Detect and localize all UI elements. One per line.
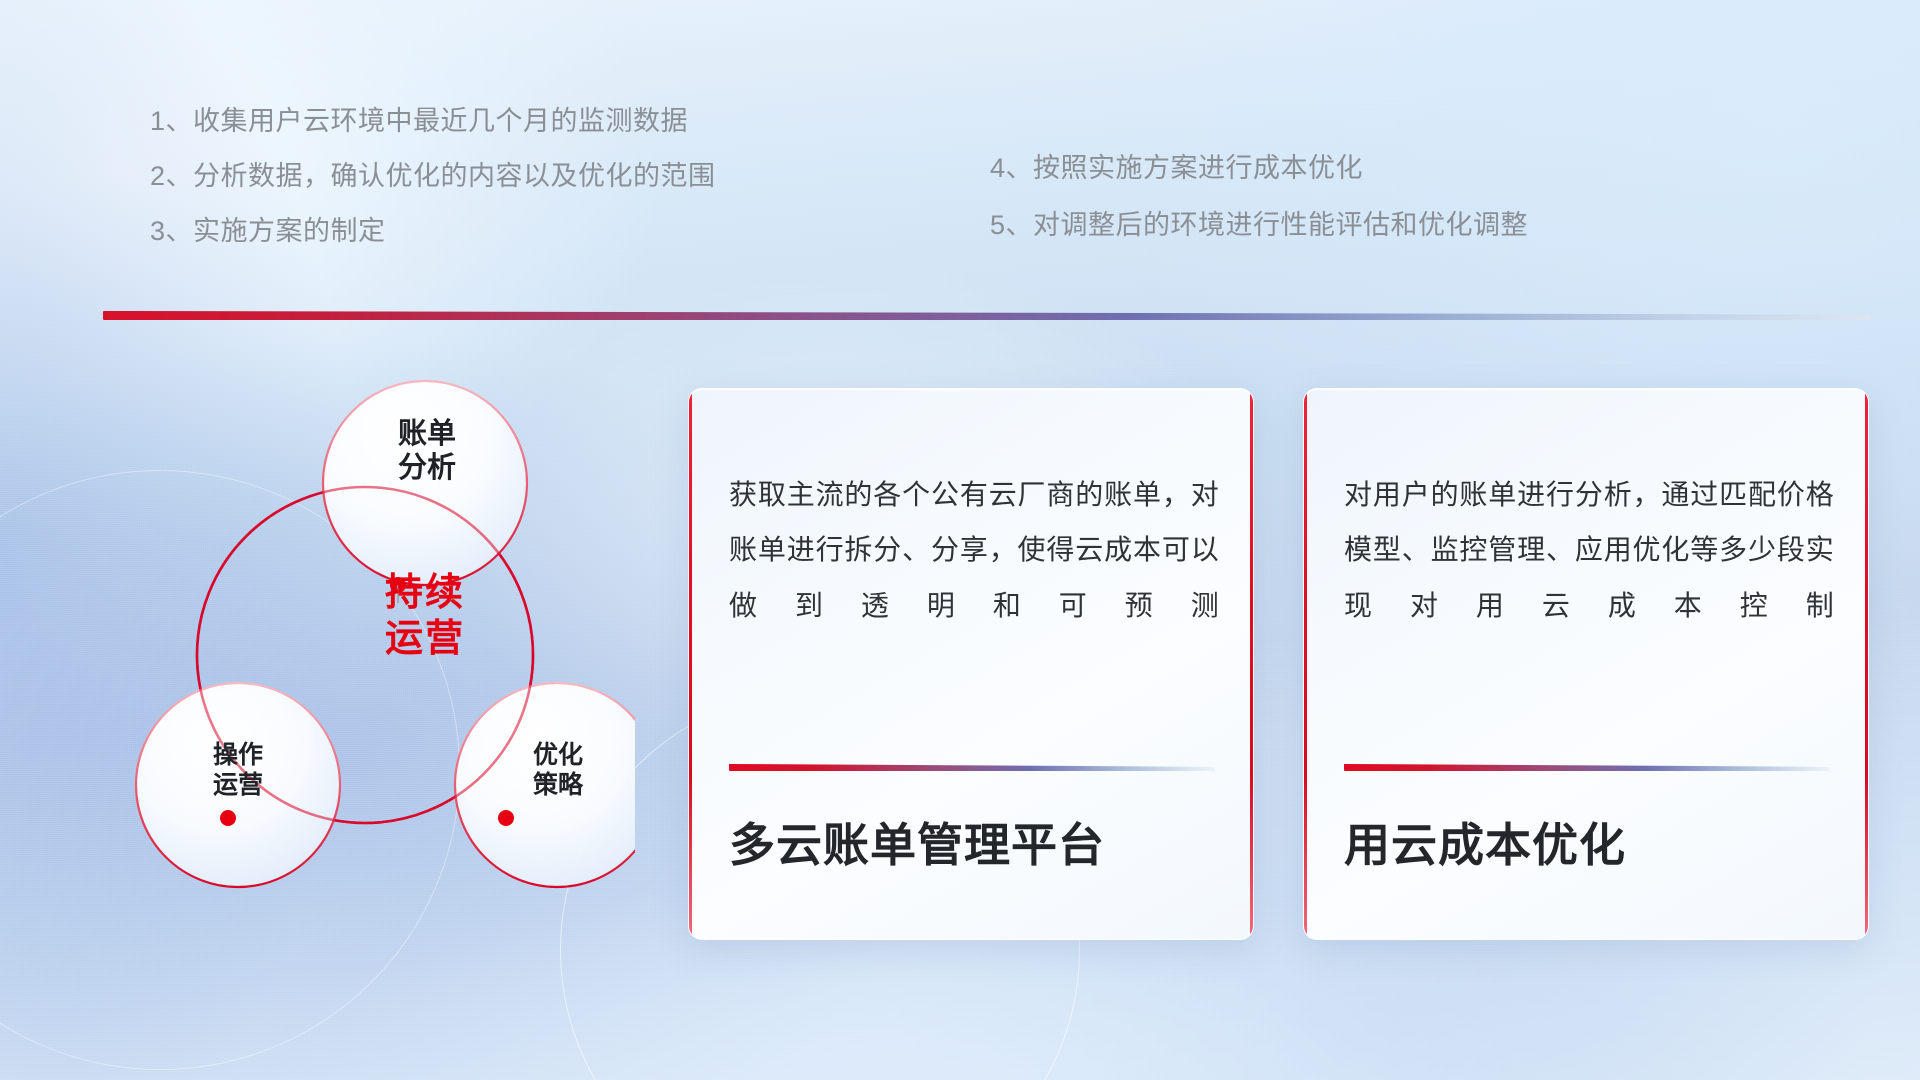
card-title: 多云账单管理平台 bbox=[729, 809, 1223, 875]
venn-label-top: 账单 分析 bbox=[347, 417, 507, 485]
section-divider-line bbox=[103, 311, 1871, 320]
venn-node-bottom-left bbox=[220, 810, 236, 826]
card-paragraph: 获取主流的各个公有云厂商的账单，对账单进行拆分、分享，使得云成本可以做到透明和可… bbox=[729, 467, 1219, 633]
venn-label-bottom-left: 操作 运营 bbox=[163, 741, 313, 800]
card-divider bbox=[729, 763, 1215, 771]
card-body: 获取主流的各个公有云厂商的账单，对账单进行拆分、分享，使得云成本可以做到透明和可… bbox=[729, 467, 1219, 633]
card-body: 对用户的账单进行分析，通过匹配价格模型、监控管理、应用优化等多少段实现对用云成本… bbox=[1344, 467, 1834, 633]
venn-diagram: 账单 分析 操作 运营 优化 策略 持续 运营 bbox=[95, 355, 635, 925]
step-item-5: 5、对调整后的环境进行性能评估和优化调整 bbox=[990, 212, 1528, 239]
info-card-multi-cloud-billing[interactable]: 获取主流的各个公有云厂商的账单，对账单进行拆分、分享，使得云成本可以做到透明和可… bbox=[688, 388, 1254, 940]
card-paragraph: 对用户的账单进行分析，通过匹配价格模型、监控管理、应用优化等多少段实现对用云成本… bbox=[1344, 467, 1834, 633]
process-step-list: 1、收集用户云环境中最近几个月的监测数据 2、分析数据，确认优化的内容以及优化的… bbox=[0, 0, 1920, 300]
step-list-right-column: 4、按照实施方案进行成本优化 5、对调整后的环境进行性能评估和优化调整 bbox=[990, 155, 1528, 269]
info-card-cloud-cost-optimization[interactable]: 对用户的账单进行分析，通过匹配价格模型、监控管理、应用优化等多少段实现对用云成本… bbox=[1303, 388, 1869, 940]
venn-label-center: 持续 运营 bbox=[325, 570, 525, 663]
card-divider-bar bbox=[1344, 763, 1830, 771]
venn-node-bottom-right bbox=[498, 810, 514, 826]
step-item-2: 2、分析数据，确认优化的内容以及优化的范围 bbox=[150, 163, 716, 190]
step-item-1: 1、收集用户云环境中最近几个月的监测数据 bbox=[150, 108, 716, 135]
card-title: 用云成本优化 bbox=[1344, 809, 1838, 875]
venn-label-bottom-right: 优化 策略 bbox=[483, 741, 633, 800]
step-item-3: 3、实施方案的制定 bbox=[150, 218, 716, 245]
card-divider-bar bbox=[729, 763, 1215, 771]
step-item-4: 4、按照实施方案进行成本优化 bbox=[990, 155, 1528, 182]
step-list-left-column: 1、收集用户云环境中最近几个月的监测数据 2、分析数据，确认优化的内容以及优化的… bbox=[150, 108, 716, 273]
section-divider-bar bbox=[103, 311, 1871, 320]
card-divider bbox=[1344, 763, 1830, 771]
